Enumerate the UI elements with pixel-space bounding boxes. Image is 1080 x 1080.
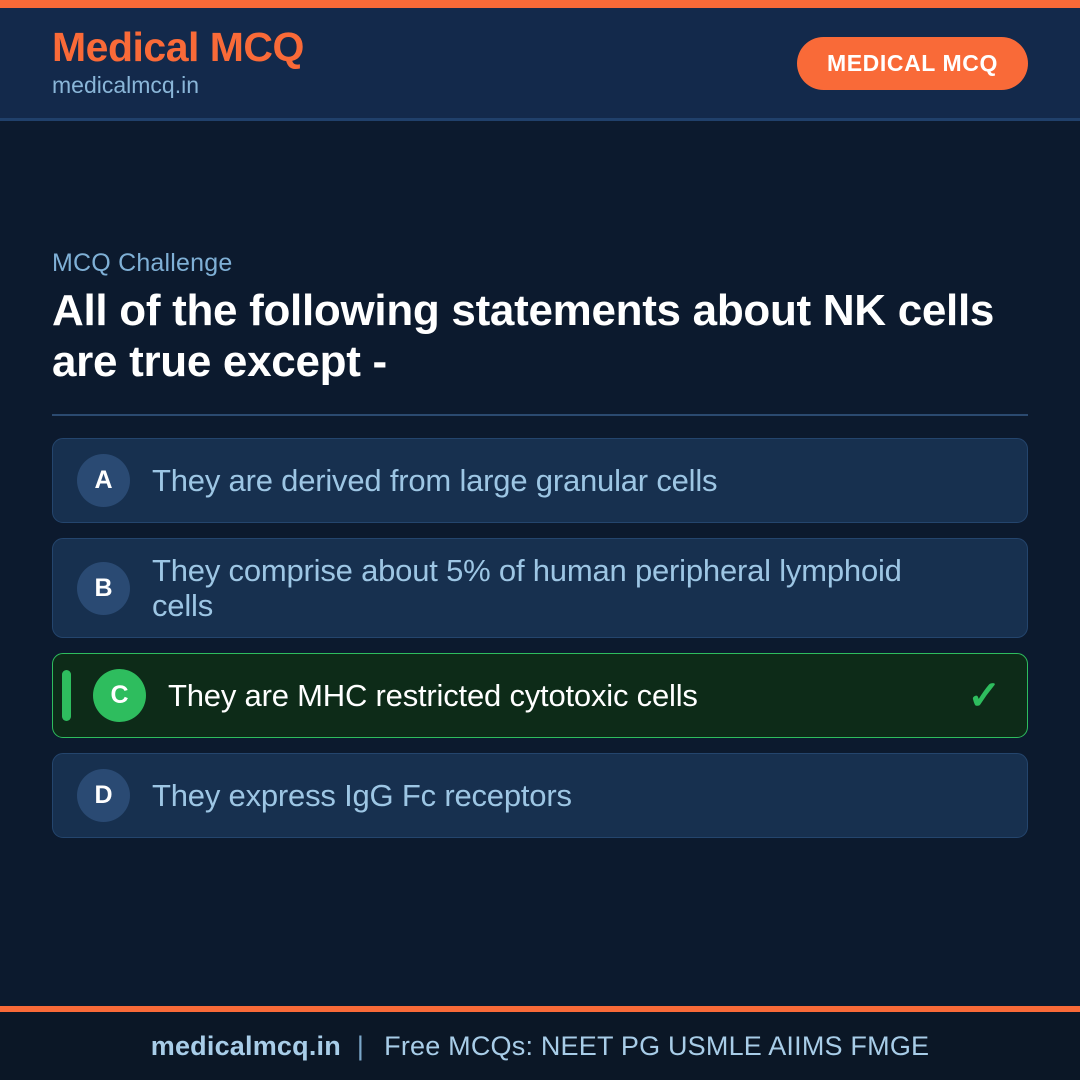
brand-title: Medical MCQ: [52, 25, 304, 69]
footer-separator: |: [341, 1031, 380, 1062]
brand-subtitle: medicalmcq.in: [52, 71, 304, 101]
option-text: They express IgG Fc receptors: [152, 778, 939, 813]
option-a[interactable]: A They are derived from large granular c…: [52, 438, 1028, 523]
option-letter: D: [77, 769, 130, 822]
option-d[interactable]: D They express IgG Fc receptors: [52, 753, 1028, 838]
options-list: A They are derived from large granular c…: [52, 438, 1028, 838]
option-letter: A: [77, 454, 130, 507]
option-letter: C: [93, 669, 146, 722]
brand-badge: MEDICAL MCQ: [797, 37, 1028, 90]
check-icon: ✓: [961, 676, 1001, 716]
top-accent-bar: [0, 0, 1080, 8]
mcq-card: Medical MCQ medicalmcq.in MEDICAL MCQ MC…: [0, 0, 1080, 1080]
option-text: They are MHC restricted cytotoxic cells: [168, 678, 939, 713]
divider: [52, 414, 1028, 416]
header: Medical MCQ medicalmcq.in MEDICAL MCQ: [0, 8, 1080, 121]
eyebrow-label: MCQ Challenge: [52, 249, 1028, 278]
brand-block: Medical MCQ medicalmcq.in: [52, 25, 304, 101]
option-text: They comprise about 5% of human peripher…: [152, 553, 939, 623]
correct-accent-bar: [62, 670, 71, 721]
question-block: MCQ Challenge All of the following state…: [52, 249, 1028, 839]
option-b[interactable]: B They comprise about 5% of human periph…: [52, 538, 1028, 638]
footer-site[interactable]: medicalmcq.in: [151, 1031, 341, 1062]
option-text: They are derived from large granular cel…: [152, 463, 939, 498]
footer: medicalmcq.in | Free MCQs: NEET PG USMLE…: [0, 1012, 1080, 1080]
page-title: All of the following statements about NK…: [52, 285, 1002, 389]
option-c[interactable]: C They are MHC restricted cytotoxic cell…: [52, 653, 1028, 738]
option-letter: B: [77, 562, 130, 615]
footer-tags: Free MCQs: NEET PG USMLE AIIMS FMGE: [384, 1031, 929, 1062]
body-area: MCQ Challenge All of the following state…: [0, 121, 1080, 1006]
